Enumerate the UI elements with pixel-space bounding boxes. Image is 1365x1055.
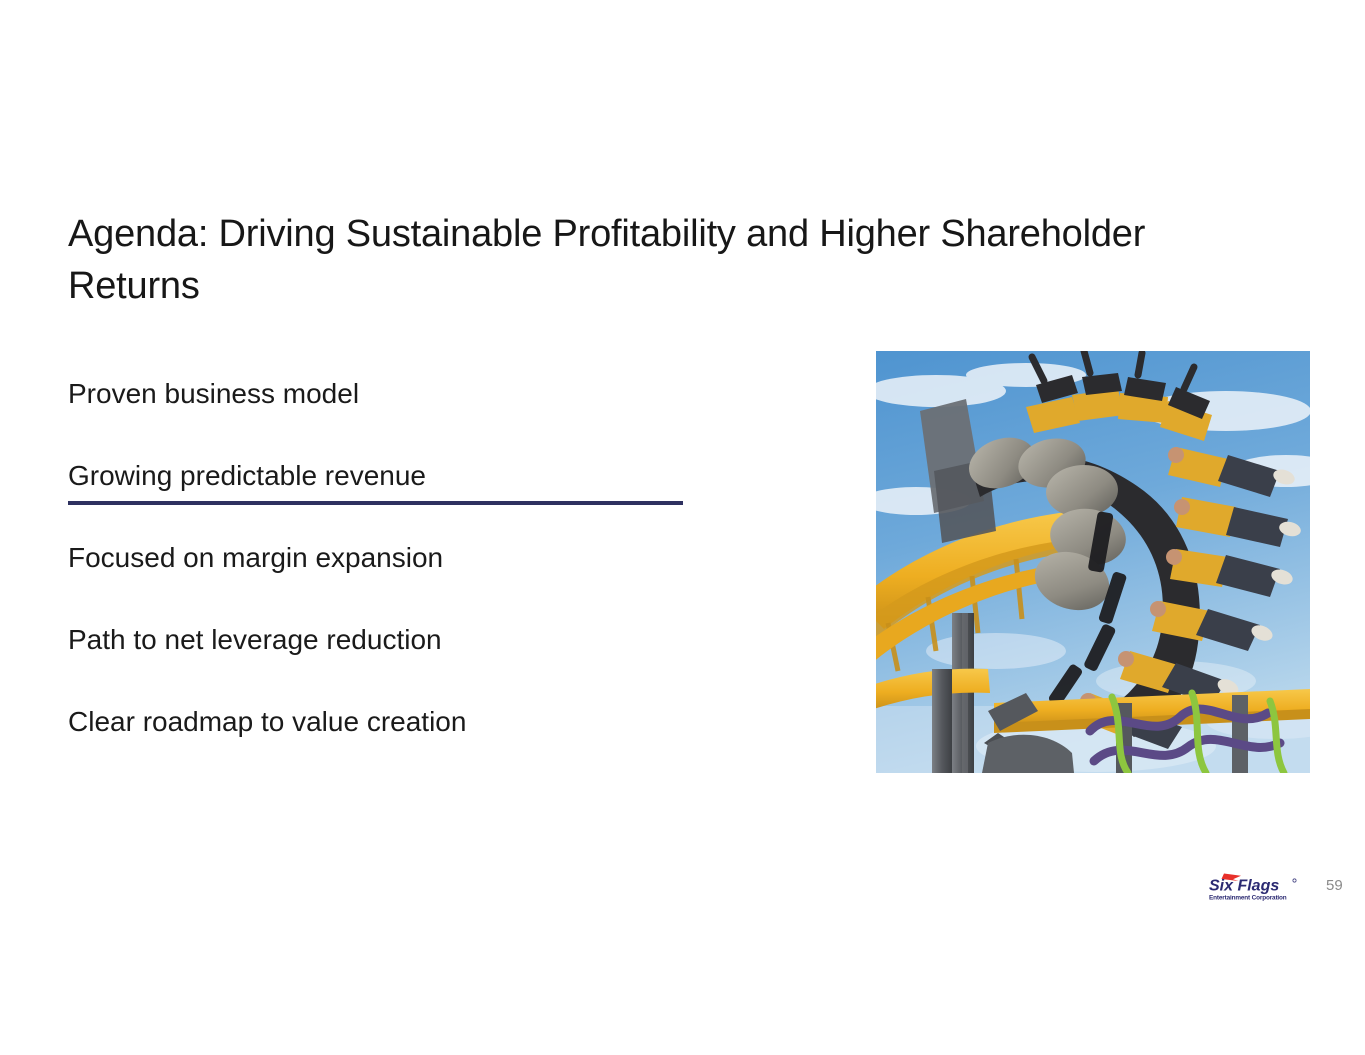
page-number: 59 <box>1326 876 1343 896</box>
agenda-item-focused-on-margin-expansion[interactable]: Focused on margin expansion <box>68 538 768 620</box>
agenda-item-label: Proven business model <box>68 374 768 414</box>
agenda-item-growing-predictable-revenue[interactable]: Growing predictable revenue <box>68 456 768 538</box>
six-flags-logo: Six Flags Entertainment Corporation <box>1208 872 1310 904</box>
agenda-item-label: Clear roadmap to value creation <box>68 702 768 742</box>
presentation-slide: Agenda: Driving Sustainable Profitabilit… <box>0 0 1365 1055</box>
agenda-item-path-to-net-leverage-reduction[interactable]: Path to net leverage reduction <box>68 620 768 702</box>
agenda-item-underline <box>68 501 683 505</box>
roller-coaster-photo <box>876 351 1310 773</box>
six-flags-logo-mark: Six Flags Entertainment Corporation <box>1208 872 1310 904</box>
agenda-list: Proven business model Growing predictabl… <box>68 374 768 784</box>
page-title: Agenda: Driving Sustainable Profitabilit… <box>68 208 1188 312</box>
six-flags-wordmark: Six Flags <box>1209 878 1279 895</box>
agenda-item-label: Growing predictable revenue <box>68 456 768 496</box>
six-flags-tagline: Entertainment Corporation <box>1209 895 1287 902</box>
agenda-item-label: Focused on margin expansion <box>68 538 768 578</box>
agenda-item-label: Path to net leverage reduction <box>68 620 768 660</box>
agenda-item-proven-business-model[interactable]: Proven business model <box>68 374 768 456</box>
agenda-item-clear-roadmap-to-value-creation[interactable]: Clear roadmap to value creation <box>68 702 768 784</box>
roller-coaster-illustration <box>876 351 1310 773</box>
